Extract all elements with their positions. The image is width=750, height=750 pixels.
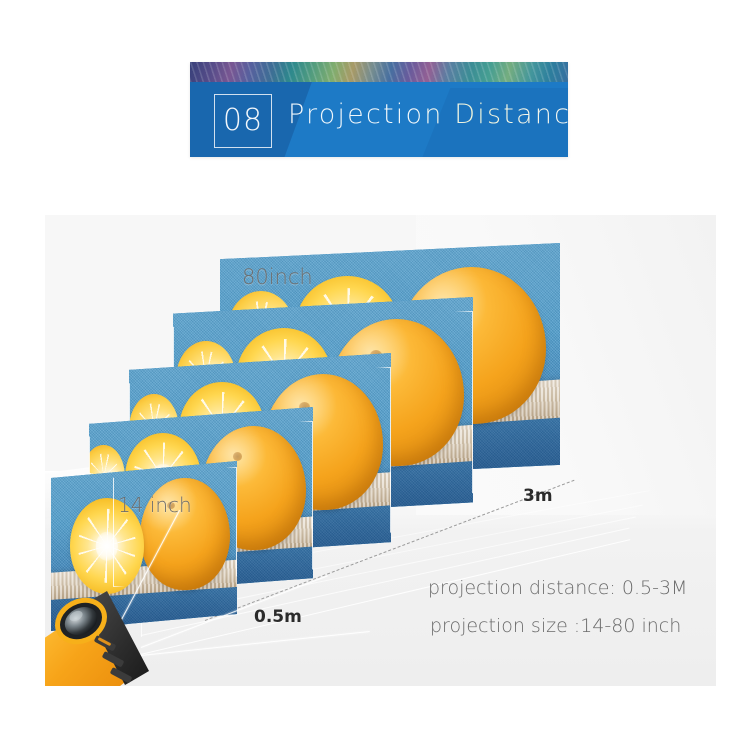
projection-scene: 80inch [45,215,716,686]
distance-label-far: 3m [523,486,553,506]
orange-navel [233,452,242,461]
page-root: 08 Projection Distance [0,0,750,750]
screen-size-label-14inch: 14 inch [118,493,192,517]
spec-projection-distance: projection distance: 0.5-3M [428,577,687,599]
projector-icon [45,583,167,686]
projector-device [45,583,167,686]
section-header-banner: 08 Projection Distance [190,62,568,157]
decorative-color-strip [190,62,568,82]
distance-label-near: 0.5m [254,607,302,627]
screen-size-label-80inch: 80inch [242,265,313,289]
section-number-box: 08 [214,94,272,148]
page-title: Projection Distance [288,99,568,130]
spec-projection-size: projection size :14-80 inch [430,615,681,637]
banner-body: 08 Projection Distance [190,82,568,157]
section-number: 08 [223,106,263,136]
